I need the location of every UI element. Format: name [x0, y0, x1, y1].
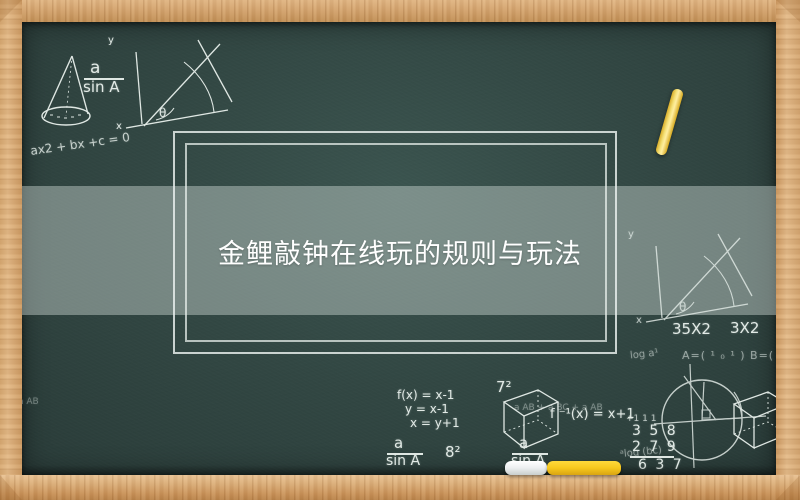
frame-corner-bottom-right [776, 475, 800, 500]
chalk-fraction-numerator-2: a [394, 434, 403, 452]
chalk-fraction-numerator-3: a [519, 434, 528, 452]
frame-bottom-ledge [0, 475, 800, 500]
page-title: 金鲤敲钟在线玩的规则与玩法 [0, 232, 800, 271]
frame-corner-bottom-left [0, 475, 22, 500]
angle-label-theta-1: θ [159, 106, 166, 120]
frame-top [0, 0, 800, 22]
chalk-sum-row-1: 3 5 8 [632, 423, 678, 439]
board-bottom-shadow [22, 465, 776, 475]
frame-corner-top-left [0, 0, 22, 22]
angle-label-theta-2: θ [679, 300, 686, 314]
chalk-function-line-2: y = x-1 [405, 402, 449, 416]
chalk-power-7: 7² [496, 378, 512, 396]
chalk-fraction-numerator-1: a [90, 58, 100, 78]
frame-corner-top-right [776, 0, 800, 22]
axis-label-y-1: y [108, 35, 114, 46]
chalk-label-3x2: 3X2 [730, 319, 759, 337]
chalk-label-35x2: 35X2 [672, 320, 711, 338]
cube-3d-diagram-right [730, 382, 776, 452]
chalk-faint-ab-short: a AB [22, 397, 39, 407]
chalk-power-8: 8² [445, 443, 461, 461]
chalk-function-line-3: x = y+1 [410, 416, 460, 430]
white-chalk-piece [505, 461, 547, 475]
chalk-matrix-notation: A=( ¹ ₀ ¹ ) B=( ⁰ ¹ ) C=( ¹ ⁰ ) [682, 349, 776, 362]
chalkboard-banner: a sin A y x θ ax2 + bx +c = 0 [0, 0, 800, 500]
axis-label-x-2: x [636, 315, 642, 326]
chalk-function-line-1: f(x) = x-1 [397, 388, 454, 402]
yellow-chalk-piece [547, 461, 621, 475]
chalk-faint-ab-expression: a AB + a BC + a AB [514, 403, 603, 413]
